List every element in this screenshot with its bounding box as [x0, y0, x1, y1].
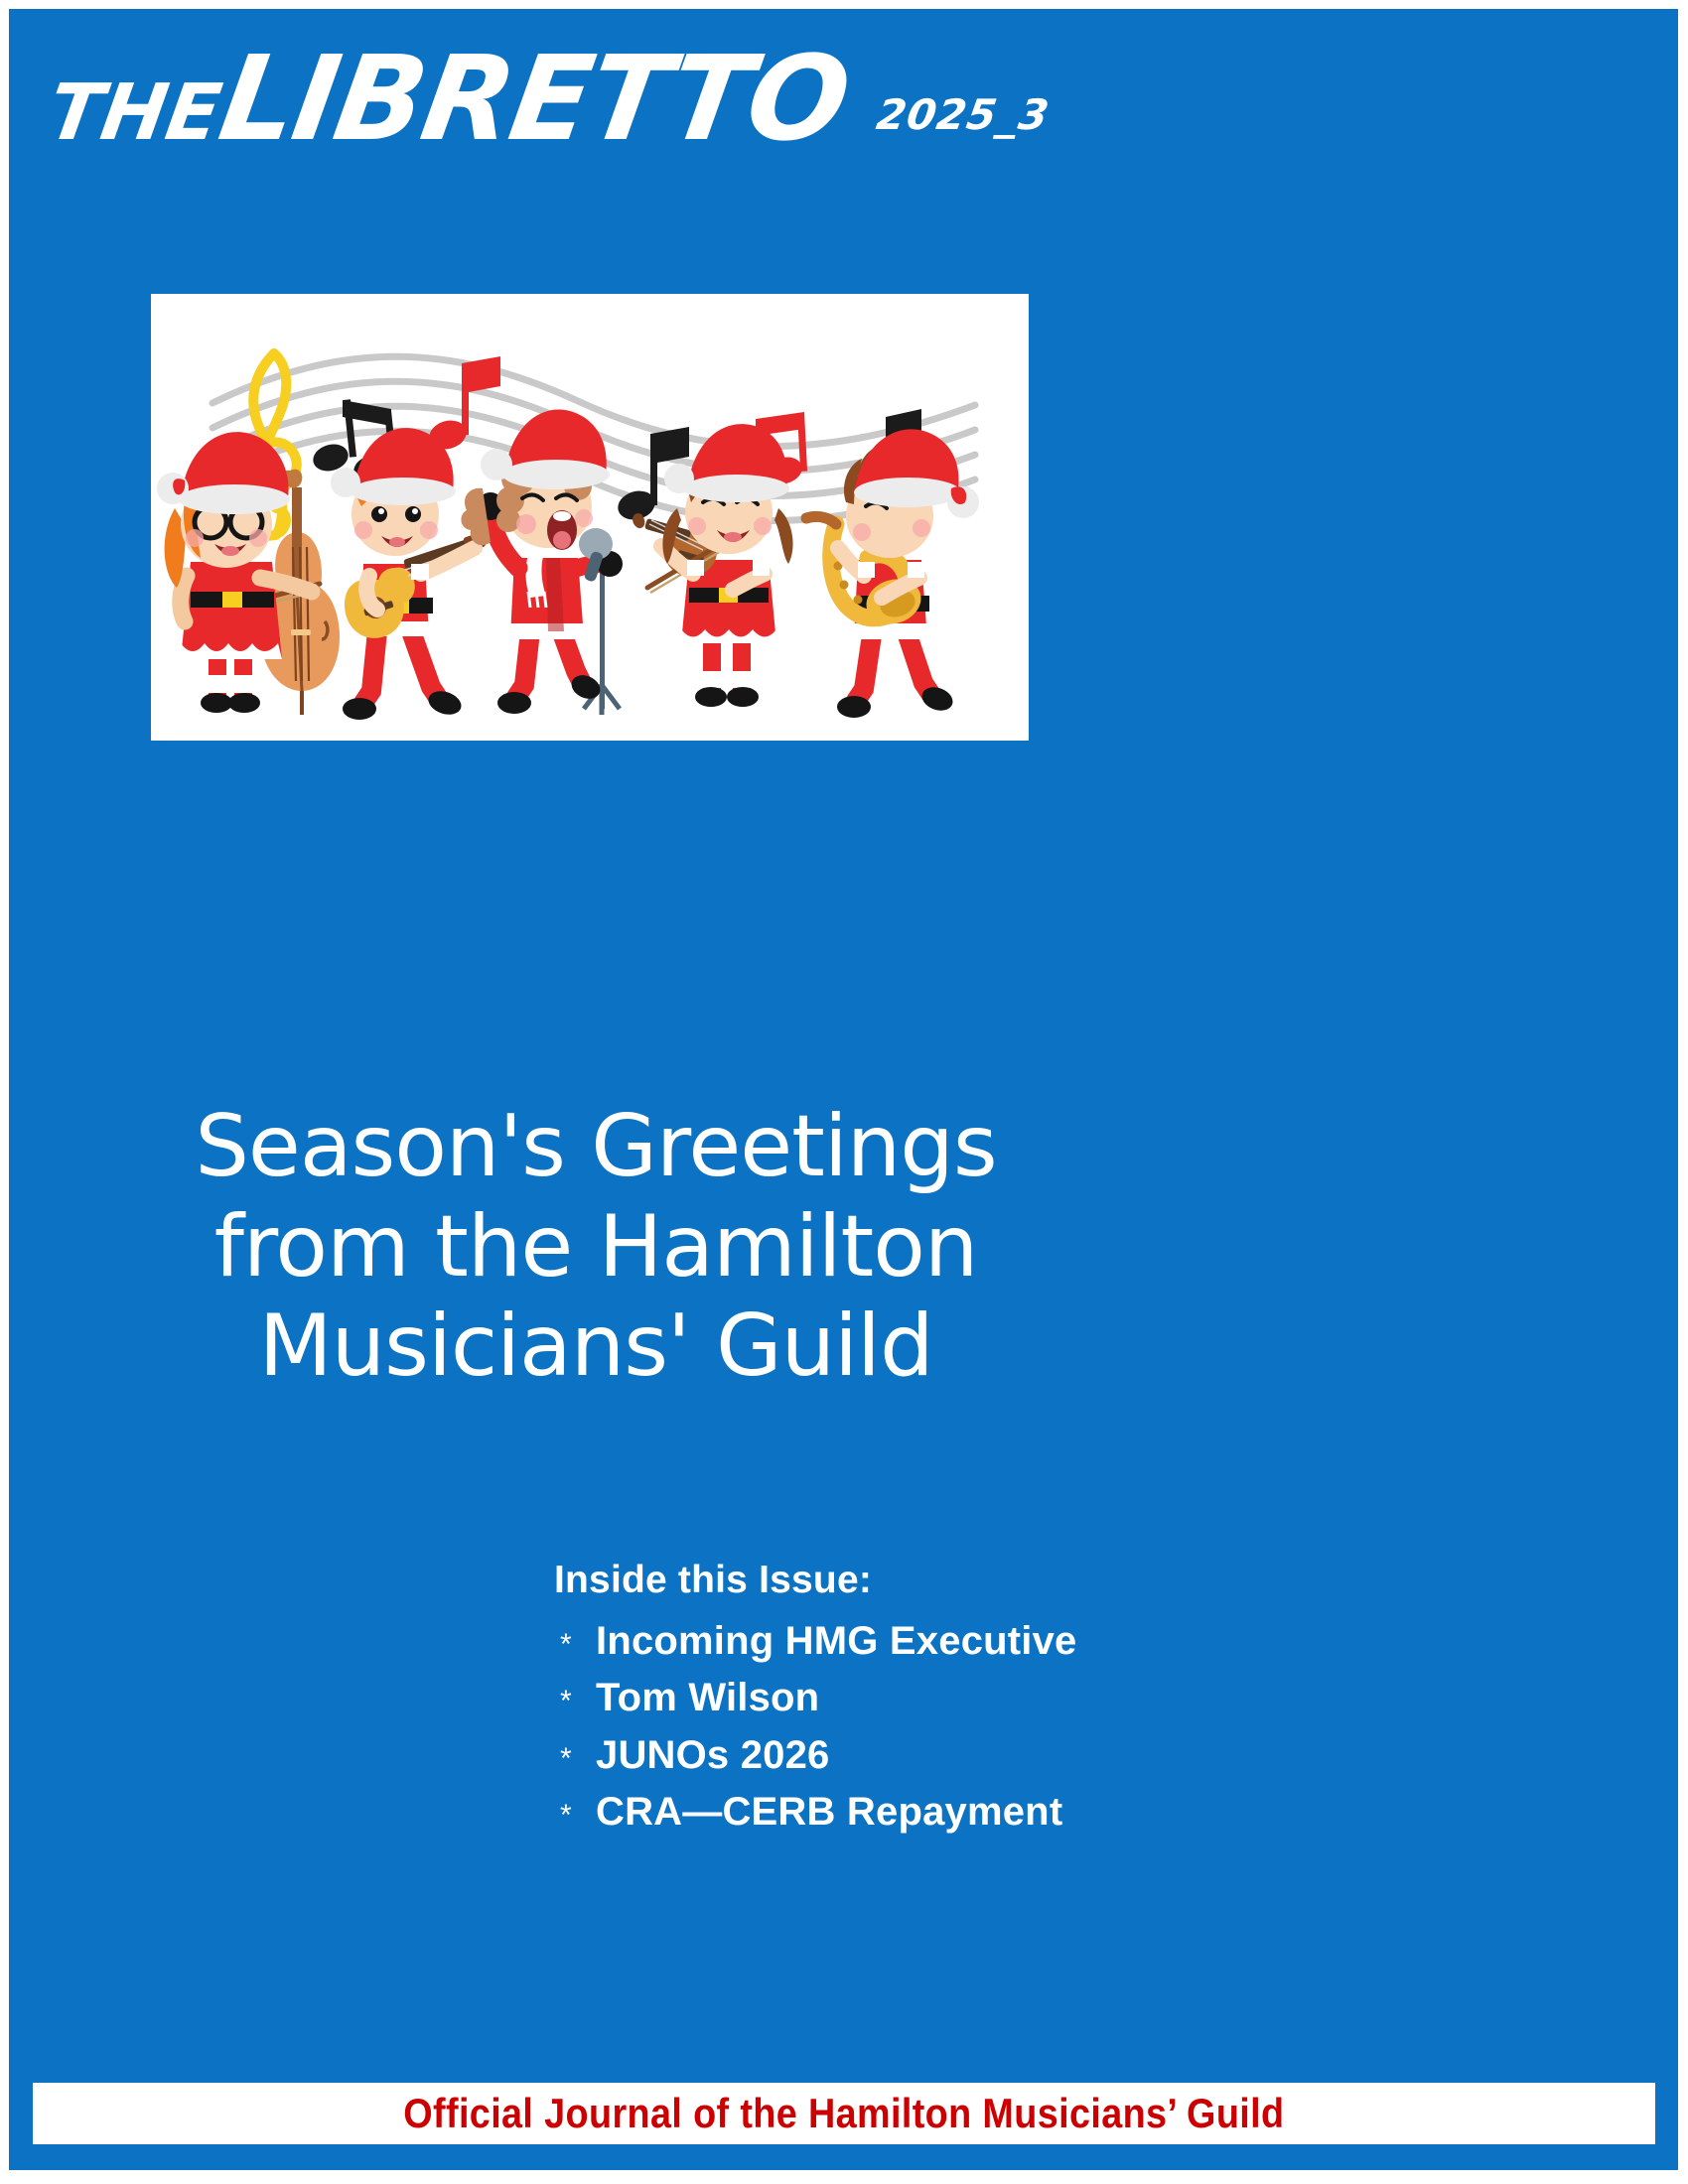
inside-this-issue-heading: Inside this Issue: [554, 1559, 1077, 1602]
page-edge-right [1678, 0, 1688, 2184]
masthead-title: THELIBRETTO [43, 40, 856, 157]
footer-tagline: Official Journal of the Hamilton Musicia… [403, 2090, 1284, 2137]
performer-boy-with-saxophone [806, 429, 979, 718]
list-item[interactable]: * Tom Wilson [554, 1673, 1077, 1722]
masthead-prefix: THE [42, 68, 226, 158]
masthead: THELIBRETTO 2025_3 [52, 40, 1048, 157]
page-edge-left [0, 0, 9, 2184]
footer-banner: Official Journal of the Hamilton Musicia… [33, 2083, 1655, 2144]
list-item[interactable]: * CRA—CERB Repayment [554, 1787, 1077, 1837]
asterisk-bullet-icon: * [554, 1687, 596, 1716]
santa-band-illustration [151, 294, 1029, 741]
headline-line-1: Season's Greetings [149, 1097, 1043, 1197]
inside-item-label: Tom Wilson [596, 1673, 819, 1722]
performer-girl-with-double-bass [157, 432, 340, 715]
issue-number: 2025_3 [871, 90, 1054, 157]
inside-item-label: CRA—CERB Repayment [596, 1787, 1062, 1837]
cover-illustration [151, 294, 1029, 741]
performer-boy-with-guitar [331, 428, 487, 720]
inside-item-label: JUNOs 2026 [596, 1730, 829, 1780]
asterisk-bullet-icon: * [554, 1630, 596, 1660]
performer-child-singing [461, 409, 623, 715]
cover-headline: Season's Greetings from the Hamilton Mus… [149, 1097, 1043, 1397]
magazine-cover: THELIBRETTO 2025_3 [0, 0, 1688, 2184]
headline-line-2: from the Hamilton [149, 1197, 1043, 1297]
headline-line-3: Musicians' Guild [149, 1297, 1043, 1397]
masthead-name: LIBRETTO [211, 30, 857, 167]
asterisk-bullet-icon: * [554, 1744, 596, 1774]
inside-this-issue: Inside this Issue: * Incoming HMG Execut… [554, 1559, 1077, 1838]
inside-item-label: Incoming HMG Executive [596, 1616, 1077, 1666]
list-item[interactable]: * JUNOs 2026 [554, 1730, 1077, 1780]
list-item[interactable]: * Incoming HMG Executive [554, 1616, 1077, 1666]
page-edge-top [0, 0, 1688, 9]
asterisk-bullet-icon: * [554, 1801, 596, 1831]
page-edge-bottom [0, 2170, 1688, 2184]
music-note-red-1 [426, 356, 500, 454]
